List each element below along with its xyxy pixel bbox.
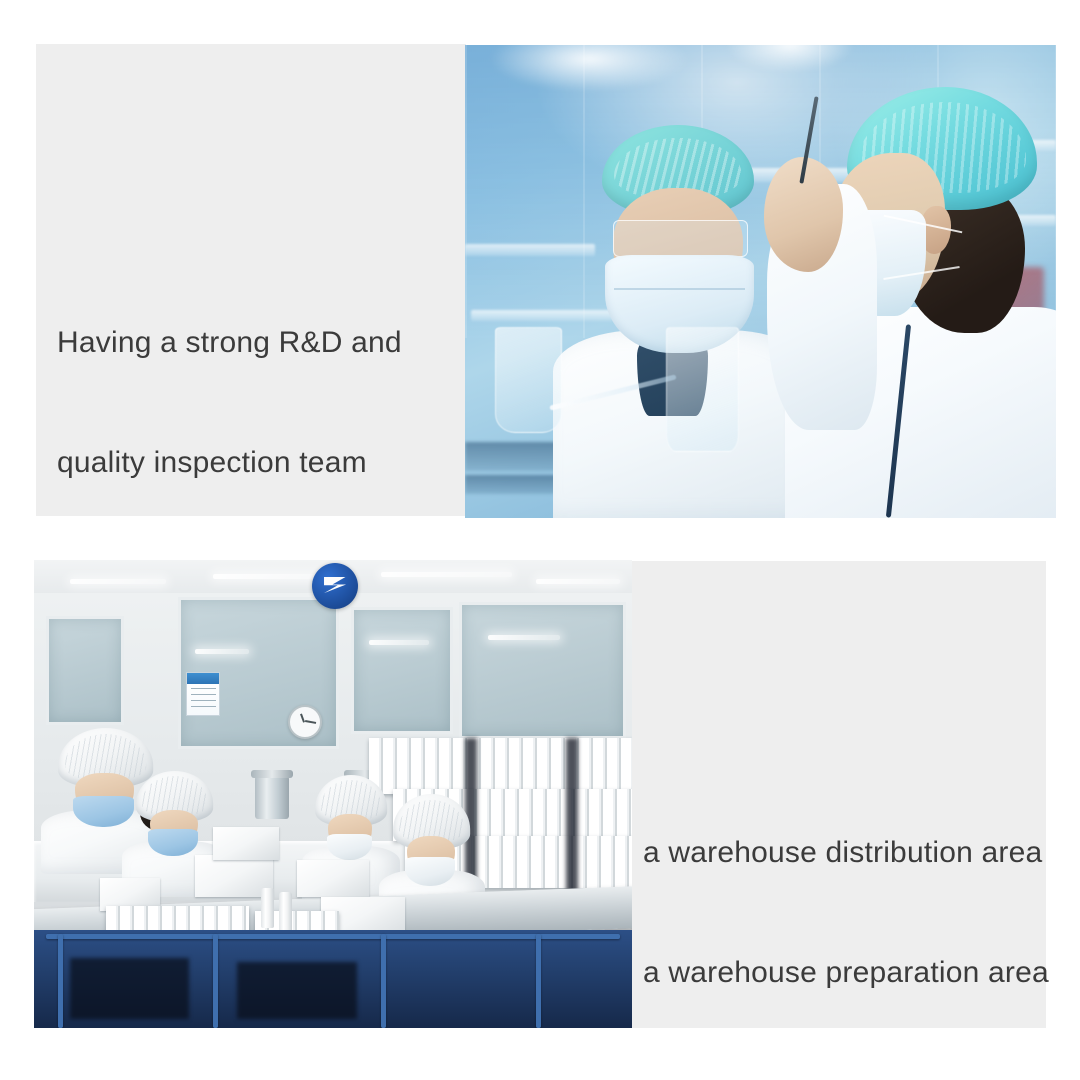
lab-beaker xyxy=(666,327,739,452)
frame-leg xyxy=(58,934,63,1028)
frame-leg xyxy=(381,934,386,1028)
warehouse-packing-photo xyxy=(34,560,632,1028)
ceiling-light xyxy=(536,579,620,584)
lab-flask xyxy=(495,327,562,433)
cleanroom-window xyxy=(459,602,626,739)
top-caption: Having a strong R&D and quality inspecti… xyxy=(57,243,457,523)
carton-stack xyxy=(369,738,632,794)
lab-technician-profile xyxy=(761,78,1057,518)
ceiling-light xyxy=(70,579,166,584)
under-table-shadow xyxy=(70,958,190,1019)
top-caption-line-1: Having a strong R&D and xyxy=(57,323,457,363)
bottom-caption-line-1: a warehouse distribution area xyxy=(643,833,1043,873)
frame-leg xyxy=(536,934,541,1028)
product-bottle xyxy=(261,888,274,928)
ceiling-light-glow xyxy=(489,45,690,92)
wall-clock-icon xyxy=(288,705,322,739)
stainless-vessel xyxy=(255,775,289,819)
frame-leg xyxy=(213,934,218,1028)
carton-box xyxy=(297,860,369,897)
frame-beam xyxy=(46,934,620,939)
product-bottle xyxy=(279,892,292,932)
cleanroom-window xyxy=(46,616,124,725)
lab-quality-inspection-photo xyxy=(465,45,1056,518)
bottom-caption-line-2: a warehouse preparation area xyxy=(643,953,1043,993)
company-logo-icon xyxy=(312,563,358,609)
under-table-shadow xyxy=(237,962,357,1018)
cleanroom-window xyxy=(351,607,453,735)
technician-safety-glasses xyxy=(613,220,748,257)
ceiling-light-reflection xyxy=(369,640,429,645)
bottom-caption: a warehouse distribution area a warehous… xyxy=(643,753,1043,1033)
ceiling-light-glow xyxy=(725,45,855,73)
wall-notice-board xyxy=(186,672,220,716)
ceiling-light xyxy=(381,572,513,577)
top-caption-line-2: quality inspection team xyxy=(57,443,457,483)
carton-box xyxy=(213,827,279,860)
ceiling-light-reflection xyxy=(195,649,249,654)
ceiling-light-reflection xyxy=(488,635,560,640)
